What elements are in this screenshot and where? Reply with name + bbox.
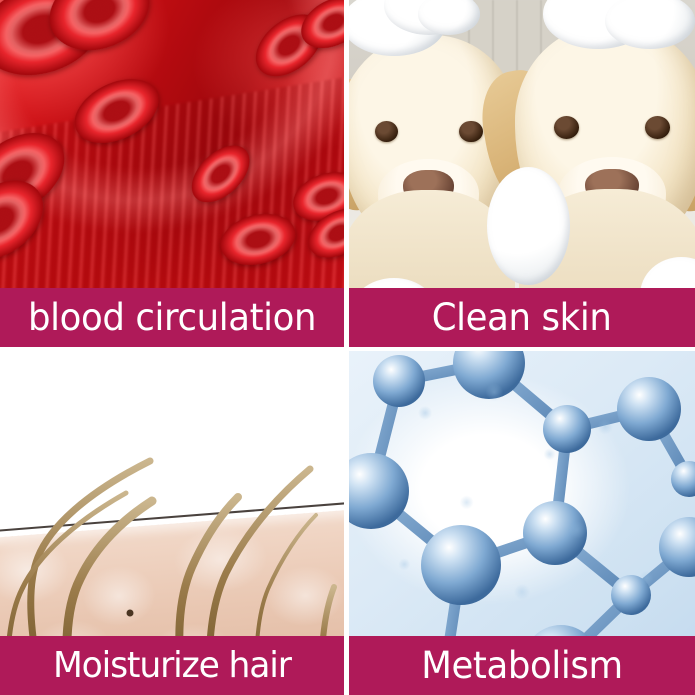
- panel-label-clean-skin: Clean skin: [432, 299, 612, 336]
- dog-eye-right: [459, 121, 482, 143]
- label-band-clean-skin: Clean skin: [349, 288, 695, 347]
- panel-label-moisturize-hair: Moisturize hair: [53, 648, 291, 684]
- panel-clean-skin[interactable]: Clean skin: [349, 0, 695, 347]
- panel-grid: blood circulation: [0, 0, 695, 695]
- dog-eye-left: [375, 121, 398, 143]
- panel-label-metabolism: Metabolism: [421, 647, 622, 684]
- panel-moisturize-hair[interactable]: Moisturize hair: [0, 351, 344, 695]
- panel-blood-circulation[interactable]: blood circulation: [0, 0, 344, 347]
- label-band-moisturize-hair: Moisturize hair: [0, 636, 344, 695]
- panel-label-blood-circulation: blood circulation: [28, 299, 316, 336]
- label-band-metabolism: Metabolism: [349, 636, 695, 695]
- dog-eye-right: [645, 116, 670, 139]
- shampoo-foam: [487, 167, 570, 285]
- dog-eye-left: [554, 116, 579, 139]
- skin-pore: [127, 610, 134, 617]
- benefits-poster: blood circulation: [0, 0, 695, 695]
- panel-metabolism[interactable]: Metabolism: [349, 351, 695, 695]
- label-band-blood-circulation: blood circulation: [0, 288, 344, 347]
